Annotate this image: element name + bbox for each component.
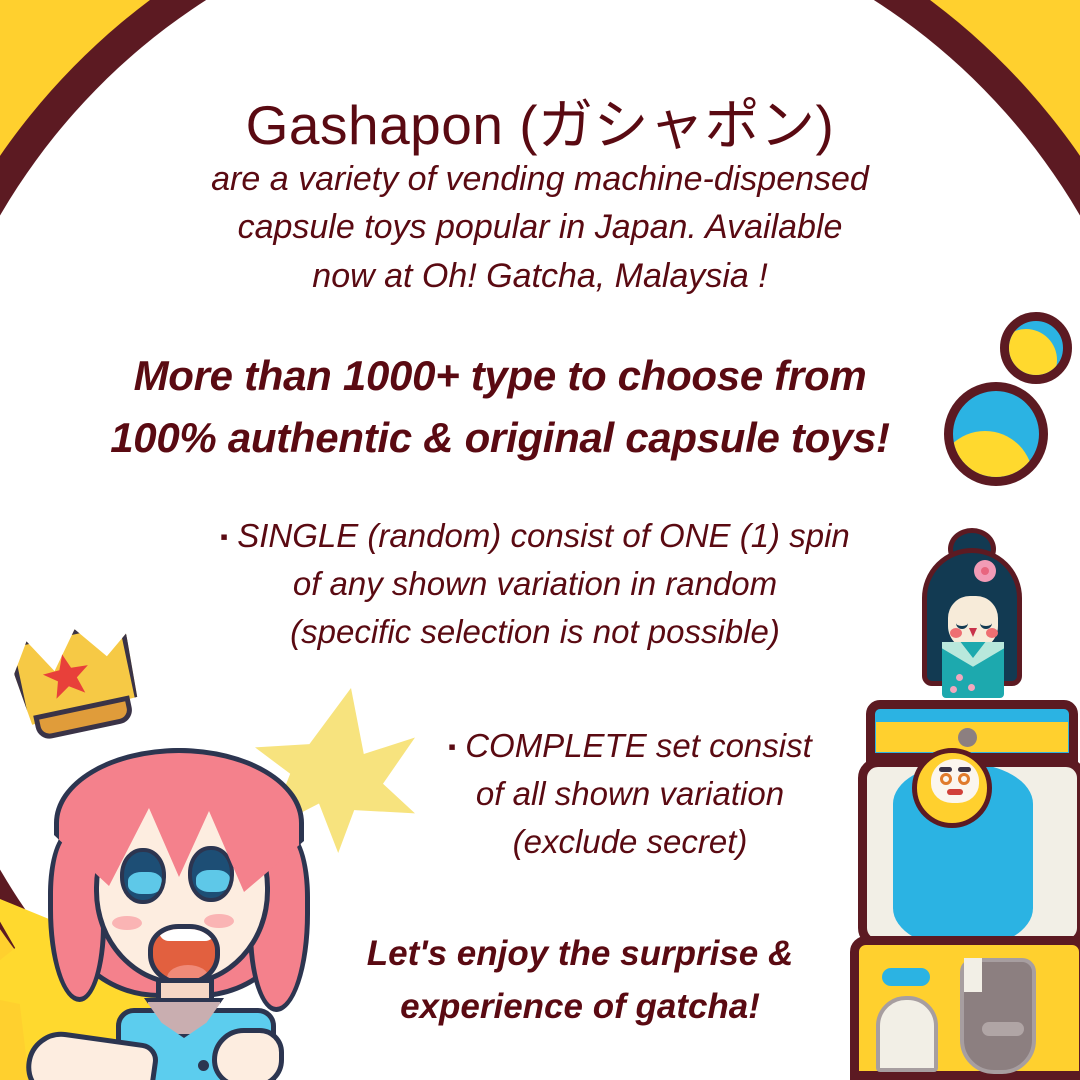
gashapon-promo-poster: Gashapon (ガシャポン) are a variety of vendin… xyxy=(0,0,1080,1080)
kimono-flower-petal xyxy=(968,684,975,691)
closing-line: Let's enjoy the surprise & xyxy=(300,928,860,981)
girl-button xyxy=(198,1060,209,1071)
capsule-icon-small xyxy=(1000,312,1072,384)
capsule-icon-large xyxy=(944,382,1048,486)
bullet-line: ▪ COMPLETE set consist xyxy=(350,722,910,770)
machine-dispenser-door xyxy=(876,996,938,1072)
gashapon-machine-illustration xyxy=(836,700,1080,1080)
daruma-eye-left xyxy=(940,773,952,785)
bullet-line: ▪ SINGLE (random) consist of ONE (1) spi… xyxy=(170,512,900,560)
kokeshi-cheek-left xyxy=(950,628,962,638)
machine-coin-slot xyxy=(982,1022,1024,1036)
bullet-text: COMPLETE set consist xyxy=(465,727,812,764)
machine-top-knob xyxy=(958,728,977,747)
girl-blush-right xyxy=(204,914,234,928)
intro-line: are a variety of vending machine-dispens… xyxy=(150,155,930,203)
bullet-line: of all shown variation xyxy=(350,770,910,818)
daruma-brow-right xyxy=(958,767,971,772)
headline-block: More than 1000+ type to choose from 100%… xyxy=(60,345,940,469)
daruma-capsule-toy-icon xyxy=(912,748,992,828)
daruma-brow-left xyxy=(939,767,952,772)
girl-open-mouth xyxy=(148,924,220,986)
bullet-single: ▪ SINGLE (random) consist of ONE (1) spi… xyxy=(170,512,900,657)
bullet-line: (specific selection is not possible) xyxy=(170,608,900,656)
daruma-face xyxy=(931,759,979,803)
girl-eye-left xyxy=(120,848,166,904)
crown-icon xyxy=(8,619,147,753)
machine-coin-highlight xyxy=(964,958,982,992)
page-title: Gashapon (ガシャポン) xyxy=(0,80,1080,160)
closing-message: Let's enjoy the surprise & experience of… xyxy=(300,928,860,1033)
kokeshi-doll-illustration xyxy=(912,528,1032,698)
girl-eye-right xyxy=(188,846,234,902)
daruma-mouth xyxy=(947,789,963,795)
bullet-text: SINGLE (random) consist of ONE (1) spin xyxy=(237,517,850,554)
bullet-complete: ▪ COMPLETE set consist of all shown vari… xyxy=(350,722,910,867)
intro-line: capsule toys popular in Japan. Available xyxy=(150,203,930,251)
machine-blue-tab xyxy=(882,968,930,986)
flower-icon xyxy=(974,560,996,582)
bullet-line: of any shown variation in random xyxy=(170,560,900,608)
bullet-marker-icon: ▪ xyxy=(220,524,228,549)
girl-blush-left xyxy=(112,916,142,930)
girl-hand xyxy=(212,1028,284,1080)
bullet-marker-icon: ▪ xyxy=(448,734,456,759)
headline-line: 100% authentic & original capsule toys! xyxy=(60,407,940,469)
kimono-flower-petal xyxy=(950,686,957,693)
daruma-eye-right xyxy=(958,773,970,785)
closing-line: experience of gatcha! xyxy=(300,981,860,1034)
intro-line: now at Oh! Gatcha, Malaysia ! xyxy=(150,252,930,300)
bullet-line: (exclude secret) xyxy=(350,818,910,866)
kimono-flower-petal xyxy=(956,674,963,681)
headline-line: More than 1000+ type to choose from xyxy=(60,345,940,407)
intro-paragraph: are a variety of vending machine-dispens… xyxy=(150,155,930,300)
kokeshi-cheek-right xyxy=(986,628,998,638)
excited-girl-illustration xyxy=(20,740,360,1080)
